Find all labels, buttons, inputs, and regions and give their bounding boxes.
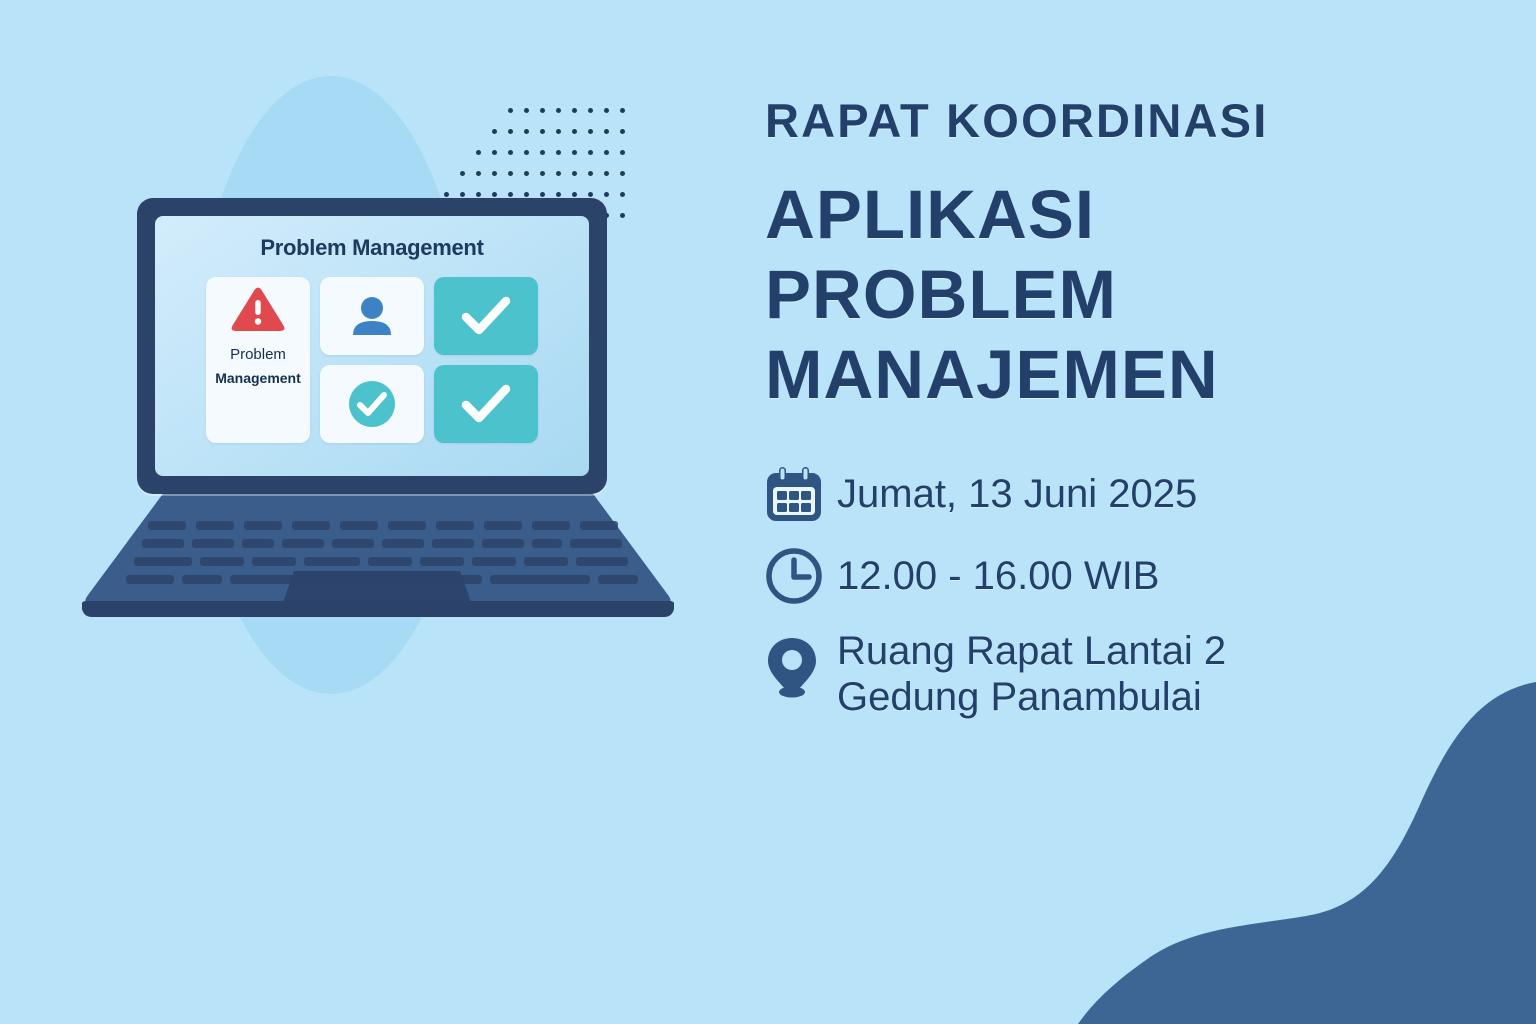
dot xyxy=(604,129,609,134)
dot xyxy=(444,192,449,197)
headline-line-3: MANAJEMEN xyxy=(765,335,1425,415)
check-icon xyxy=(460,293,512,339)
dot xyxy=(604,150,609,155)
dot xyxy=(540,108,545,113)
dot xyxy=(476,171,481,176)
dot xyxy=(604,192,609,197)
dot xyxy=(620,129,625,134)
dot xyxy=(508,129,513,134)
dot xyxy=(556,129,561,134)
laptop-keyboard xyxy=(82,491,674,617)
dot xyxy=(572,129,577,134)
dot xyxy=(476,150,481,155)
dot xyxy=(524,171,529,176)
event-time: 12.00 - 16.00 WIB xyxy=(837,554,1159,600)
dot xyxy=(572,192,577,197)
dot xyxy=(508,150,513,155)
check-card-1[interactable] xyxy=(434,277,538,355)
laptop-illustration: Problem Management Problem Management xyxy=(82,198,674,648)
headline-line-2: PROBLEM xyxy=(765,255,1425,335)
event-date: Jumat, 13 Juni 2025 xyxy=(837,472,1197,518)
laptop-screen: Problem Management Problem Management xyxy=(155,216,589,476)
check-card-2[interactable] xyxy=(434,365,538,443)
clock-icon-wrapper xyxy=(765,547,837,605)
problem-label-line-1: Problem xyxy=(230,346,286,363)
calendar-icon-wrapper xyxy=(765,465,837,523)
event-details-list: Jumat, 13 Juni 2025 12.00 - 16.00 WIB xyxy=(765,465,1425,720)
dot xyxy=(508,192,513,197)
dot xyxy=(604,108,609,113)
event-location-line-2: Gedung Panambulai xyxy=(837,675,1202,719)
dot xyxy=(588,192,593,197)
dot xyxy=(460,171,465,176)
dot xyxy=(524,192,529,197)
dot xyxy=(508,171,513,176)
dot xyxy=(492,171,497,176)
dot xyxy=(492,192,497,197)
dot xyxy=(572,108,577,113)
dot xyxy=(588,108,593,113)
dot xyxy=(524,129,529,134)
dot xyxy=(492,150,497,155)
user-card[interactable] xyxy=(320,277,424,355)
laptop-trackpad xyxy=(282,571,472,605)
dot xyxy=(572,171,577,176)
circle-check-card[interactable] xyxy=(320,365,424,443)
dot xyxy=(556,108,561,113)
dot xyxy=(524,108,529,113)
dot xyxy=(620,108,625,113)
dot xyxy=(604,171,609,176)
event-location: Ruang Rapat Lantai 2 Gedung Panambulai xyxy=(837,629,1226,720)
problem-label-line-2: Management xyxy=(215,370,301,386)
clock-icon xyxy=(765,547,823,605)
page-title: APLIKASI PROBLEM MANAJEMEN xyxy=(765,175,1425,415)
event-location-line-1: Ruang Rapat Lantai 2 xyxy=(837,629,1226,673)
dot xyxy=(620,192,625,197)
dot xyxy=(556,171,561,176)
screen-card-grid: Problem Management xyxy=(206,277,538,443)
dot xyxy=(556,192,561,197)
headline-line-1: APLIKASI xyxy=(765,175,1425,255)
dot xyxy=(588,150,593,155)
dot xyxy=(508,108,513,113)
dot xyxy=(540,150,545,155)
person-icon xyxy=(349,293,395,339)
detail-row-date: Jumat, 13 Juni 2025 xyxy=(765,465,1425,523)
dot xyxy=(540,129,545,134)
problem-card[interactable]: Problem Management xyxy=(206,277,310,443)
calendar-icon xyxy=(765,465,823,523)
dot xyxy=(620,150,625,155)
dot xyxy=(588,171,593,176)
screen-title: Problem Management xyxy=(155,235,589,261)
location-pin-icon xyxy=(765,637,819,699)
dot xyxy=(620,171,625,176)
dot xyxy=(588,129,593,134)
dot xyxy=(524,150,529,155)
eyebrow-title: RAPAT KOORDINASI xyxy=(765,96,1425,145)
detail-row-time: 12.00 - 16.00 WIB xyxy=(765,547,1425,605)
check-icon xyxy=(460,381,512,427)
circle-check-icon xyxy=(346,378,398,430)
dot xyxy=(460,192,465,197)
event-info-panel: RAPAT KOORDINASI APLIKASI PROBLEM MANAJE… xyxy=(765,96,1425,745)
laptop-lid: Problem Management Problem Management xyxy=(137,198,607,494)
dot xyxy=(540,171,545,176)
dot xyxy=(556,150,561,155)
location-pin-icon-wrapper xyxy=(765,629,837,699)
dot xyxy=(540,192,545,197)
dot xyxy=(476,192,481,197)
warning-triangle-icon xyxy=(230,286,286,334)
detail-row-location: Ruang Rapat Lantai 2 Gedung Panambulai xyxy=(765,629,1425,720)
dot xyxy=(572,150,577,155)
dot xyxy=(492,129,497,134)
